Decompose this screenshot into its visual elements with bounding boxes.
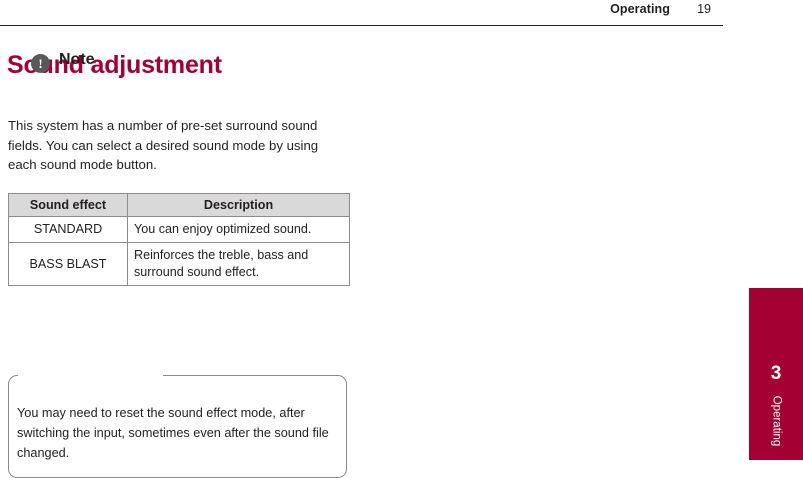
sound-effect-table: Sound effect Description STANDARD You ca…	[8, 193, 350, 286]
chapter-side-tab: 3 Operating	[749, 288, 803, 460]
page-number: 19	[697, 2, 711, 16]
page-header: Operating 19	[0, 0, 723, 26]
chapter-label: Operating	[749, 391, 803, 427]
table-header-row: Sound effect Description	[9, 194, 350, 217]
table-row: STANDARD You can enjoy optimized sound.	[9, 217, 350, 243]
chapter-number: 3	[749, 363, 803, 385]
table-col-description: Description	[128, 194, 350, 217]
chapter-label-text: Operating	[770, 396, 782, 447]
cell-sound-effect: STANDARD	[9, 217, 128, 243]
cell-description: Reinforces the treble, bass and surround…	[128, 243, 350, 286]
intro-paragraph: This system has a number of pre-set surr…	[8, 116, 348, 175]
note-header	[8, 375, 347, 401]
note-text: You may need to reset the sound effect m…	[17, 403, 339, 463]
note-header-background	[18, 375, 163, 401]
cell-sound-effect: BASS BLAST	[9, 243, 128, 286]
main-content: Sound adjustment This system has a numbe…	[7, 50, 427, 80]
table-row: BASS BLAST Reinforces the treble, bass a…	[9, 243, 350, 286]
exclamation-mark-icon: !	[31, 54, 50, 73]
cell-description: You can enjoy optimized sound.	[128, 217, 350, 243]
table-col-sound-effect: Sound effect	[9, 194, 128, 217]
note-label: Note	[59, 51, 95, 69]
header-divider	[0, 25, 723, 26]
header-section-title: Operating	[610, 2, 670, 16]
